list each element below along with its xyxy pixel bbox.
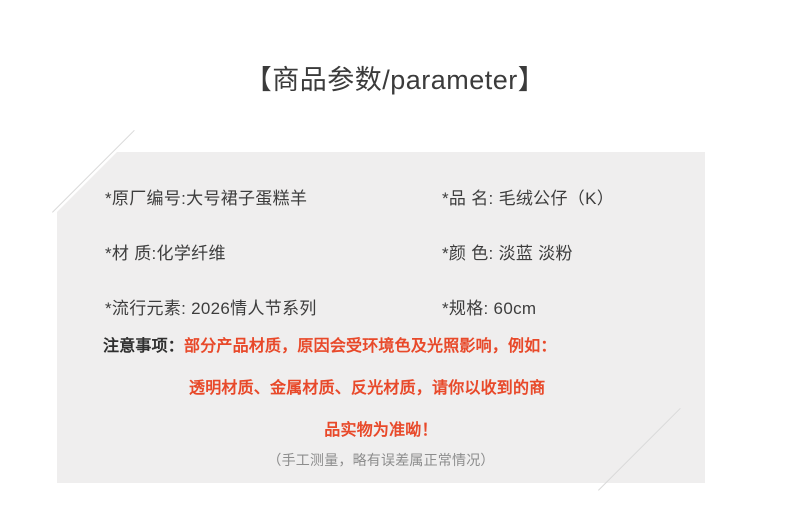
notice-text-line-2: 透明材质、金属材质、反光材质，请你以收到的商	[189, 380, 545, 397]
notice-line: 品实物为准呦！	[57, 418, 705, 444]
notice-line: 透明材质、金属材质、反光材质，请你以收到的商	[57, 376, 790, 402]
parameter-color: *颜 色: 淡蓝 淡粉	[442, 237, 573, 271]
parameter-trend-element: *流行元素: 2026情人节系列	[105, 292, 317, 326]
notice-label: 注意事项：	[103, 338, 184, 355]
notice-text-line-1: 部分产品材质，原因会受环境色及光照影响，例如：	[184, 338, 557, 355]
page-title: 【商品参数/parameter】	[0, 62, 790, 98]
notice-text-line-3: 品实物为准呦！	[324, 422, 437, 439]
parameter-row: *原厂编号:大号裙子蛋糕羊 *品 名: 毛绒公仔（K）	[57, 182, 705, 216]
product-parameter-page: 【商品参数/parameter】 *原厂编号:大号裙子蛋糕羊 *品 名: 毛绒公…	[0, 0, 790, 528]
measurement-disclaimer: （手工测量，略有误差属正常情况）	[57, 449, 705, 471]
parameter-size: *规格: 60cm	[442, 292, 536, 326]
parameter-product-name: *品 名: 毛绒公仔（K）	[442, 182, 614, 216]
notice-line: 注意事项：部分产品材质，原因会受环境色及光照影响，例如：	[57, 334, 751, 360]
parameter-material: *材 质:化学纤维	[105, 237, 226, 271]
parameter-row: *材 质:化学纤维 *颜 色: 淡蓝 淡粉	[57, 237, 705, 271]
parameter-row: *流行元素: 2026情人节系列 *规格: 60cm	[57, 292, 705, 326]
parameter-list: *原厂编号:大号裙子蛋糕羊 *品 名: 毛绒公仔（K） *材 质:化学纤维 *颜…	[57, 152, 705, 483]
parameter-factory-code: *原厂编号:大号裙子蛋糕羊	[105, 182, 307, 216]
